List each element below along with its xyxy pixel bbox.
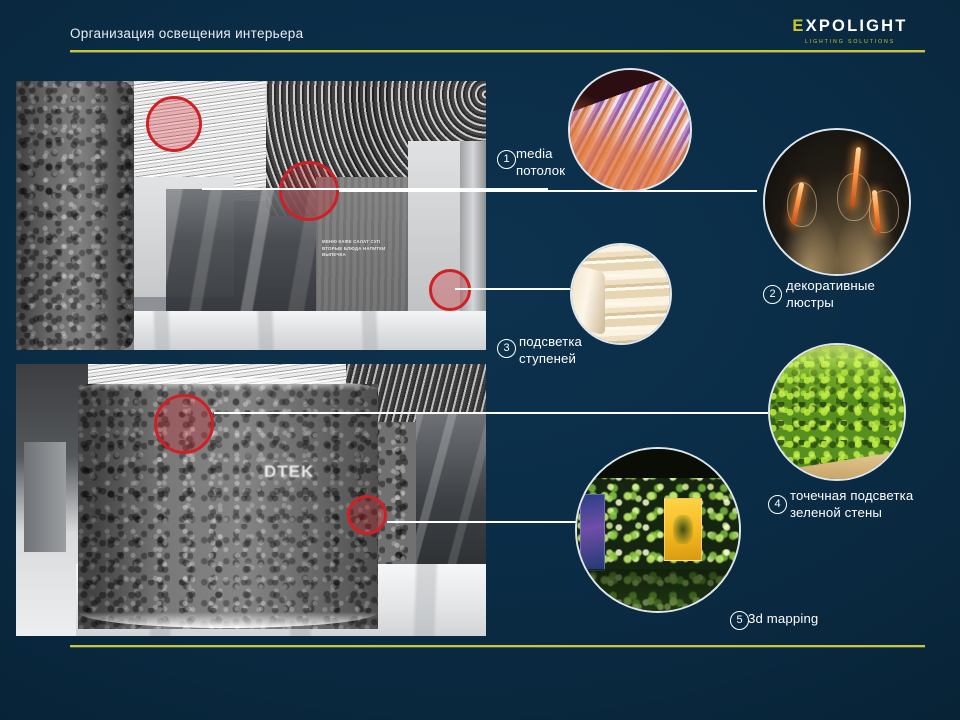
footer-divider-rule: [70, 645, 925, 647]
callout-label-1: media потолок: [516, 146, 565, 179]
hotspot-stairs[interactable]: [429, 269, 471, 311]
callout-label-2: декоративные люстры: [786, 278, 875, 311]
callout-stair-lighting[interactable]: [570, 243, 672, 345]
dtek-wall-sign: DTEK: [264, 462, 314, 482]
callout-badge-1: 1: [497, 150, 516, 169]
expolight-logo: EXPOLIGHT LIGHTING SOLUTIONS: [775, 18, 925, 45]
logo-tagline: LIGHTING SOLUTIONS: [775, 40, 925, 45]
callout-green-wall-spotlight[interactable]: [768, 343, 906, 481]
floor-reflection: [116, 311, 486, 350]
hotspot-green-wall-spot[interactable]: [154, 394, 214, 454]
callout-3d-mapping[interactable]: [575, 447, 741, 613]
callout-label-4: точечная подсветка зеленой стены: [790, 488, 913, 521]
3d-mapping-floor: [577, 569, 739, 611]
callout-label-5: 3d mapping: [748, 611, 818, 628]
green-column-shading: [16, 81, 134, 350]
slide-canvas: Организация освещения интерьера EXPOLIGH…: [0, 0, 960, 720]
callout-badge-5: 5: [730, 611, 749, 630]
page-title: Организация освещения интерьера: [70, 26, 303, 41]
hotspot-chandeliers[interactable]: [279, 161, 339, 221]
callout-badge-3: 3: [497, 339, 516, 358]
connector-line-5: [387, 521, 577, 523]
green-wall-shading: [78, 384, 378, 629]
connector-line-4: [214, 412, 768, 414]
callout-badge-2: 2: [763, 285, 782, 304]
left-doorway: [24, 442, 66, 552]
3d-mapping-yellow-panel: [664, 498, 702, 562]
stair-nosing: [570, 261, 605, 334]
callout-chandeliers[interactable]: [763, 128, 911, 276]
green-wall-spot-glow: [770, 345, 904, 401]
3d-mapping-dark-ceiling: [577, 449, 739, 478]
menu-board-text: МЕНЮ КАФЕ САЛАТ СУП ВТОРЫЕ БЛЮДА НАПИТКИ…: [322, 239, 392, 259]
green-wall-corridor-photo: [16, 364, 486, 636]
hotspot-media-ceiling[interactable]: [146, 96, 202, 152]
logo-first-letter: E: [792, 17, 805, 35]
hotspot-3d-mapping[interactable]: [347, 495, 387, 535]
connector-line-3: [455, 288, 570, 290]
media-ceiling-warm-overlay: [570, 70, 690, 190]
logo-wordmark: EXPOLIGHT: [775, 18, 925, 35]
callout-label-3: подсветка ступеней: [519, 334, 582, 367]
3d-mapping-blue-panel: [580, 494, 605, 571]
callout-badge-4: 4: [768, 495, 787, 514]
callout-media-ceiling[interactable]: [568, 68, 692, 192]
logo-rest-letters: XPOLIGHT: [806, 17, 908, 35]
header-divider-rule: [70, 50, 925, 52]
interior-corridor-photo: МЕНЮ КАФЕ САЛАТ СУП ВТОРЫЕ БЛЮДА НАПИТКИ…: [16, 81, 486, 350]
connector-line-2: [339, 190, 757, 192]
